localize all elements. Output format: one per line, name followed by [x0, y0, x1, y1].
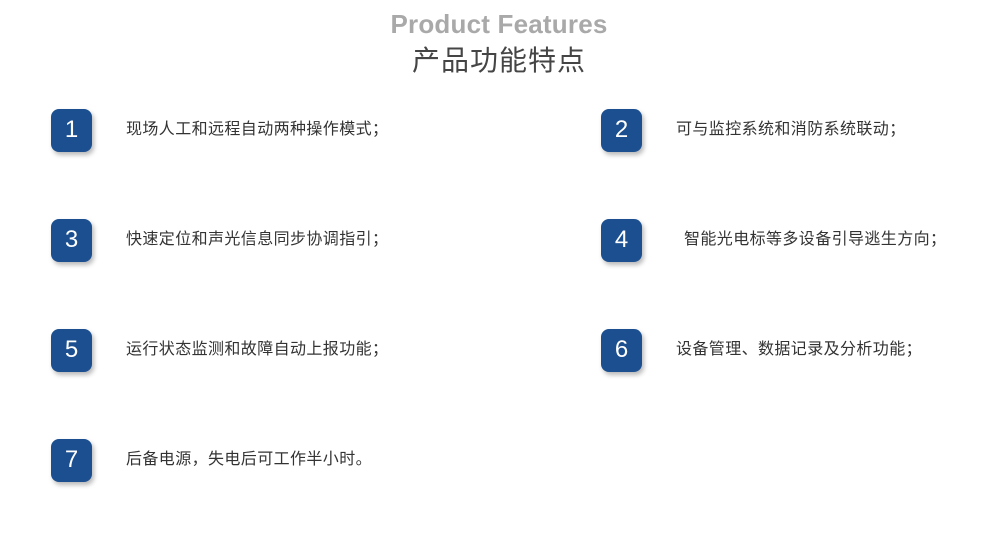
feature-text-5: 运行状态监测和故障自动上报功能； — [126, 338, 388, 362]
page-header: Product Features 产品功能特点 — [0, 0, 998, 80]
feature-list: 1 现场人工和远程自动两种操作模式； 2 可与监控系统和消防系统联动； 3 快速… — [0, 100, 998, 540]
feature-item-4: 4 智能光电标等多设备引导逃生方向； — [601, 210, 991, 270]
feature-item-7: 7 后备电源，失电后可工作半小时。 — [51, 430, 551, 490]
feature-text-7: 后备电源，失电后可工作半小时。 — [126, 448, 372, 472]
feature-number-badge-1: 1 — [51, 109, 92, 152]
feature-item-5: 5 运行状态监测和故障自动上报功能； — [51, 320, 551, 380]
feature-item-2: 2 可与监控系统和消防系统联动； — [601, 100, 991, 160]
feature-text-1: 现场人工和远程自动两种操作模式； — [126, 118, 388, 142]
feature-text-3: 快速定位和声光信息同步协调指引； — [126, 228, 388, 252]
feature-number-badge-4: 4 — [601, 219, 642, 262]
feature-item-3: 3 快速定位和声光信息同步协调指引； — [51, 210, 551, 270]
page-title-chinese: 产品功能特点 — [0, 40, 998, 80]
feature-row: 1 现场人工和远程自动两种操作模式； 2 可与监控系统和消防系统联动； — [0, 100, 998, 210]
feature-text-2: 可与监控系统和消防系统联动； — [676, 118, 906, 142]
feature-text-6: 设备管理、数据记录及分析功能； — [676, 338, 922, 362]
feature-row: 5 运行状态监测和故障自动上报功能； 6 设备管理、数据记录及分析功能； — [0, 320, 998, 430]
feature-item-1: 1 现场人工和远程自动两种操作模式； — [51, 100, 551, 160]
feature-number-badge-2: 2 — [601, 109, 642, 152]
feature-number-badge-5: 5 — [51, 329, 92, 372]
feature-text-4: 智能光电标等多设备引导逃生方向； — [684, 228, 946, 252]
feature-row: 7 后备电源，失电后可工作半小时。 — [0, 430, 998, 540]
feature-item-6: 6 设备管理、数据记录及分析功能； — [601, 320, 991, 380]
page-title-english: Product Features — [0, 8, 998, 40]
feature-row: 3 快速定位和声光信息同步协调指引； 4 智能光电标等多设备引导逃生方向； — [0, 210, 998, 320]
feature-number-badge-6: 6 — [601, 329, 642, 372]
feature-number-badge-3: 3 — [51, 219, 92, 262]
feature-number-badge-7: 7 — [51, 439, 92, 482]
